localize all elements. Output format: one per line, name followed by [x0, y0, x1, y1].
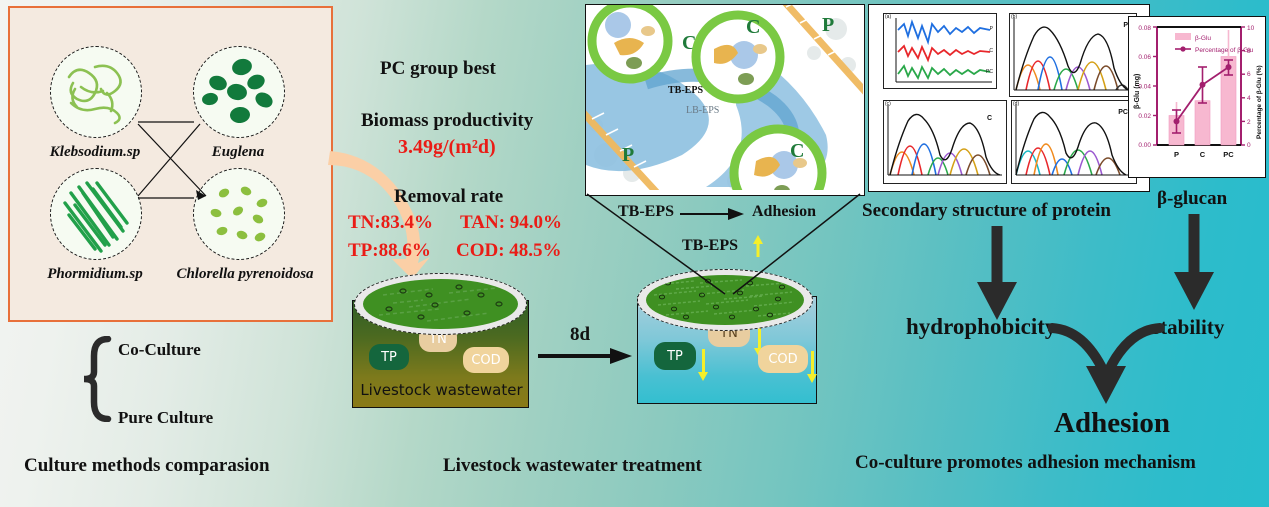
glucan-y2label: Percentage of β-Glu (%) — [1256, 65, 1263, 139]
ftir-deconvolution-c — [884, 101, 1006, 183]
label-lb-eps-inner: LB-EPS — [686, 105, 719, 116]
sparse-algae-icon — [363, 279, 518, 329]
ftir-d-group-label: PC — [1118, 109, 1128, 116]
removal-tan: TAN: 94.0% — [460, 212, 562, 234]
culture-bracket — [78, 336, 118, 422]
protein-structure-caption: Secondary structure of protein — [862, 200, 1111, 222]
ftir-a-series-p: P — [990, 26, 993, 32]
cell-eps-diagram: C C C P P TB-EPS LB-EPS — [585, 4, 865, 196]
ftir-d-panel-label: (d) — [1013, 101, 1019, 107]
euglena-cells-icon — [194, 47, 284, 137]
glucan-ytick-1: 0.02 — [1138, 113, 1151, 120]
eps-flow-target: Adhesion — [752, 203, 816, 221]
glucan-to-stability-arrow-icon — [1172, 214, 1216, 314]
eps-flow-arrow-icon — [680, 207, 746, 221]
species-label-phormidium: Phormidium.sp — [28, 266, 162, 283]
tag-tp-after: TP — [654, 342, 696, 370]
chlorella-cells-icon — [194, 169, 284, 259]
tag-cod-before: COD — [463, 347, 509, 373]
glucan-y2tick-3: 6 — [1247, 71, 1251, 78]
species-label-klebsodium: Klebsodium.sp — [32, 144, 158, 161]
petri-dish-phormidium — [50, 168, 142, 260]
glucan-legend-bar-swatch — [1175, 33, 1191, 40]
label-tb-eps-inner: TB-EPS — [668, 85, 703, 96]
eps-flow-source: TB-EPS — [618, 203, 674, 221]
petri-dish-euglena — [193, 46, 285, 138]
ftir-deconvolution-p — [1010, 14, 1136, 96]
glucan-xtick-P: P — [1174, 150, 1179, 159]
biomass-productivity-value: 3.49g/(m²d) — [398, 136, 496, 159]
removal-rate-label: Removal rate — [394, 186, 503, 208]
converging-adhesion-arrow-icon — [1048, 320, 1164, 408]
petri-dish-chlorella — [193, 168, 285, 260]
tp-decrease-arrow-icon — [702, 349, 705, 373]
glucan-caption: β-glucan — [1157, 188, 1227, 210]
phormidium-filaments-icon — [51, 169, 141, 259]
ftir-c-panel-label: (c) — [885, 101, 891, 107]
label-chlorella-3: C — [790, 140, 804, 162]
beta-glucan-plot: 0.00 0.02 0.04 0.06 0.08 0 2 4 6 8 10 — [1129, 17, 1264, 176]
glucan-legend-bar-label: β-Glu — [1195, 35, 1211, 42]
ftir-subpanel-c: (c) C — [883, 100, 1007, 184]
glucan-legend-line-label: Percentage of β-Glu — [1195, 47, 1254, 54]
label-phormidium-2: P — [622, 144, 634, 166]
vessel-after-pond — [646, 275, 804, 325]
ftir-a-panel-label: (a) — [885, 14, 891, 20]
glucan-y2tick-5: 10 — [1247, 25, 1255, 32]
label-phormidium-1: P — [822, 14, 834, 36]
petri-dish-klebsodium — [50, 46, 142, 138]
biomass-productivity-label: Biomass productivity — [361, 110, 533, 132]
species-label-chlorella: Chlorella pyrenoidosa — [160, 266, 330, 283]
ftir-figure-panel: (a) P C PC (b) P — [868, 4, 1150, 192]
glucan-y2tick-2: 4 — [1247, 95, 1251, 102]
removal-tn: TN:83.4% — [348, 212, 433, 234]
protein-to-hydrophobicity-arrow-icon — [975, 226, 1019, 322]
glucan-legend-line-marker — [1180, 46, 1185, 51]
glucan-y2tick-0: 0 — [1247, 142, 1251, 149]
headline-pc-group-best: PC group best — [380, 58, 496, 80]
livestock-wastewater-label: Livestock wastewater — [353, 381, 530, 399]
glucan-ylabel: β-Glu (mg) — [1134, 74, 1141, 109]
dense-algae-icon — [646, 275, 804, 325]
glucan-ytick-3: 0.06 — [1138, 54, 1151, 61]
ftir-subpanel-a: (a) P C PC — [883, 13, 997, 89]
caption-right: Co-culture promotes adhesion mechanism — [855, 452, 1196, 474]
ftir-subpanel-b: (b) P — [1009, 13, 1137, 97]
glucan-xtick-C: C — [1200, 150, 1206, 159]
transition-arrow-icon — [538, 348, 634, 366]
glucan-xtick-PC: PC — [1223, 150, 1234, 159]
glucan-ytick-4: 0.08 — [1138, 25, 1151, 32]
ftir-a-series-c: C — [989, 48, 993, 54]
glucan-y2tick-1: 2 — [1247, 119, 1251, 126]
tag-cod-after: COD — [758, 345, 808, 373]
duration-label-8d: 8d — [570, 324, 590, 346]
effect-hydrophobicity: hydrophobicity — [906, 314, 1056, 340]
tag-tp-before: TP — [369, 344, 409, 370]
ftir-spectra-chart — [884, 14, 996, 88]
klebsodium-filaments-icon — [51, 47, 141, 137]
culture-bracket-top-label: Co-Culture — [118, 340, 201, 360]
chlorella-cell-1 — [592, 5, 668, 79]
removal-tp: TP:88.6% — [348, 240, 431, 262]
mechanism-outcome-adhesion: Adhesion — [1054, 407, 1170, 440]
chlorella-cell-3 — [734, 129, 822, 190]
species-label-euglena: Euglena — [188, 144, 288, 161]
species-comparison-panel: Klebsodium.sp Euglena Phor — [8, 6, 333, 322]
glucan-ytick-0: 0.00 — [1138, 142, 1151, 149]
cod-decrease-arrow-icon — [811, 351, 814, 375]
ftir-a-series-pc: PC — [986, 69, 993, 75]
label-chlorella-2: C — [746, 16, 760, 38]
eps-matrix-illustration: C C C P P TB-EPS LB-EPS — [586, 5, 863, 190]
chlorella-cell-2 — [696, 15, 780, 99]
beta-glucan-chart: 0.00 0.02 0.04 0.06 0.08 0 2 4 6 8 10 — [1128, 16, 1266, 178]
eps-increase-arrow-icon — [752, 235, 764, 257]
ftir-subpanel-d: (d) PC — [1011, 100, 1137, 184]
ftir-b-panel-label: (b) — [1011, 14, 1017, 20]
eps-increase-label: TB-EPS — [682, 237, 738, 255]
caption-center: Livestock wastewater treatment — [443, 455, 702, 477]
ftir-c-group-label: C — [987, 115, 992, 122]
caption-left: Culture methods comparasion — [24, 455, 270, 477]
culture-bracket-bottom-label: Pure Culture — [118, 408, 213, 428]
vessel-before-pond — [363, 279, 518, 329]
removal-cod: COD: 48.5% — [456, 240, 562, 262]
